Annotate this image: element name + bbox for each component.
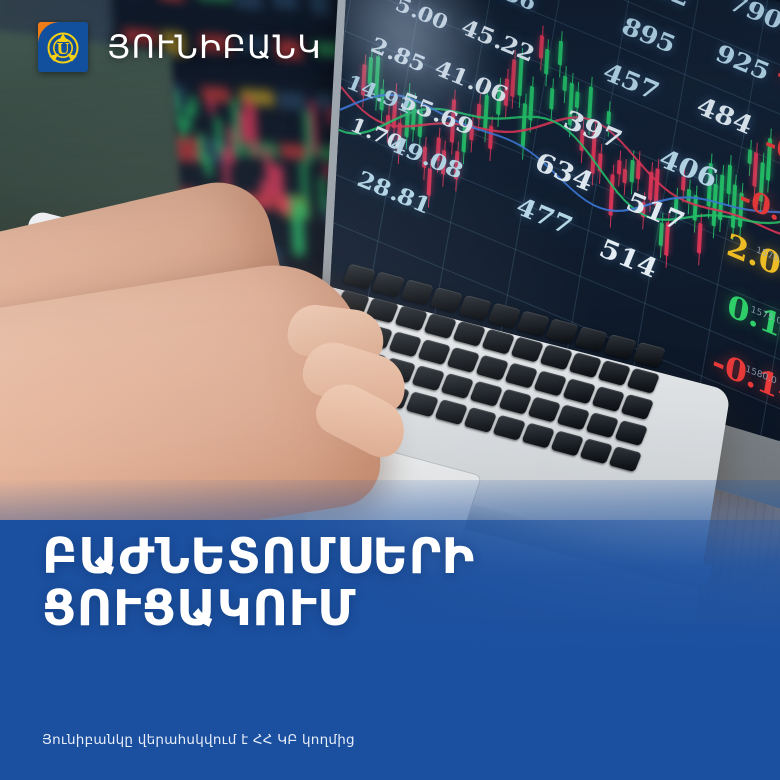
headline-line-1: ԲԱԺՆԵՏՈՄՍԵՐԻ [42,531,475,582]
promo-banner-image: 14.916.5418.676827902.4538.368959255.004… [0,0,780,780]
page-title: ԲԱԺՆԵՏՈՄՍԵՐԻ ՑՈՒՑԱԿՈՒՄ [42,531,475,634]
regulatory-disclaimer: Յունիբանկը վերահսկվում է ՀՀ ԿԲ կողմից [42,732,355,748]
logo-emblem: U [38,22,88,72]
unibank-logo-icon: U [38,22,88,72]
brand-lockup[interactable]: U ՅՈՒՆԻԲԱՆԿ [38,22,322,72]
brand-name: ՅՈՒՆԻԲԱՆԿ [107,28,322,66]
blue-overlay-solid [0,662,780,780]
logo-letter: U [56,40,69,58]
headline-line-2: ՑՈՒՑԱԿՈՒՄ [42,583,475,634]
